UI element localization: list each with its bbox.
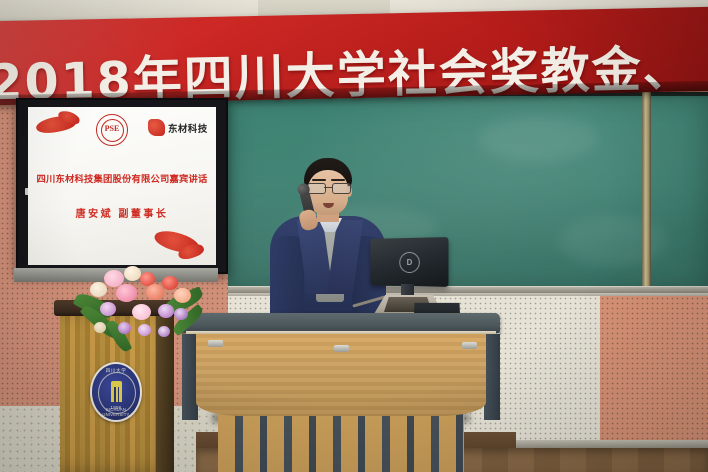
pse-emblem-label: PSE: [97, 124, 127, 133]
slide-headline: 四川东材科技集团股份有限公司嘉宾讲话: [28, 171, 216, 185]
event-banner: 2018年四川大学社会奖教金、: [0, 7, 708, 105]
flower-purple: [158, 326, 170, 337]
slide-surface: PSE 东材科技 四川东材科技集团股份有限公司嘉宾讲话 唐安斌 副董事长: [28, 107, 216, 265]
flower-pink: [116, 284, 137, 302]
seal-tower-icon: [111, 381, 122, 402]
eyeglass-bridge: [324, 187, 332, 188]
desk-latch-center[interactable]: [334, 345, 349, 352]
eyeglasses-icon: [306, 183, 350, 192]
eyeglass-lens-right: [332, 183, 351, 194]
flower-purple: [100, 302, 116, 316]
flower-red: [162, 276, 178, 290]
dongcai-company-name: 东材科技: [168, 121, 208, 135]
seal-english-name: SICHUAN UNIVERSITY: [92, 407, 140, 417]
projection-screen: PSE 东材科技 四川东材科技集团股份有限公司嘉宾讲话 唐安斌 副董事长: [16, 98, 228, 274]
chalkboard-divider: [642, 92, 651, 290]
flower-purple: [118, 322, 131, 334]
flower-purple: [138, 324, 151, 336]
desk-base-panel: [218, 414, 464, 472]
flower-arrangement: [74, 264, 206, 360]
flower-cream: [94, 322, 106, 333]
flower-coral: [146, 284, 164, 300]
flower-white: [90, 282, 107, 297]
desk-side-right: [484, 334, 500, 420]
slide-speaker-name: 唐安斌 副董事长: [28, 205, 216, 220]
monitor-panel: D: [370, 237, 448, 287]
dongcai-logo: 东材科技: [148, 119, 208, 136]
dongcai-mark-icon: [148, 119, 165, 136]
teaching-desk: [182, 313, 500, 472]
flower-purple: [158, 304, 174, 318]
chalk-smudge: [478, 116, 598, 162]
desk-latch-right[interactable]: [462, 342, 477, 349]
flower-purple: [174, 308, 188, 320]
eyeglass-lens-left: [307, 183, 326, 194]
wall-panel-salmon-right: [600, 296, 708, 448]
university-seal: 四川大学 1896 SICHUAN UNIVERSITY: [90, 362, 138, 418]
flower-peach: [174, 288, 191, 303]
seal-outer-ring: 四川大学 1896 SICHUAN UNIVERSITY: [90, 362, 142, 422]
speaker-brow-right: [331, 179, 345, 181]
lecture-hall-photo: 2018年四川大学社会奖教金、 PSE 东材科技 四川东材科技集团股份有限公司嘉…: [0, 0, 708, 472]
pse-emblem-icon: PSE: [96, 114, 128, 146]
desk-top: [182, 313, 500, 333]
chalk-smudge: [558, 216, 668, 266]
speaker-left-arm: [270, 236, 304, 324]
flower-pink: [132, 304, 151, 320]
speaker-brow-left: [312, 179, 326, 181]
flower-cream: [124, 266, 141, 281]
desk-latch-left[interactable]: [208, 340, 223, 347]
dell-logo-icon: D: [399, 252, 420, 273]
seal-chinese-name: 四川大学: [92, 368, 140, 374]
